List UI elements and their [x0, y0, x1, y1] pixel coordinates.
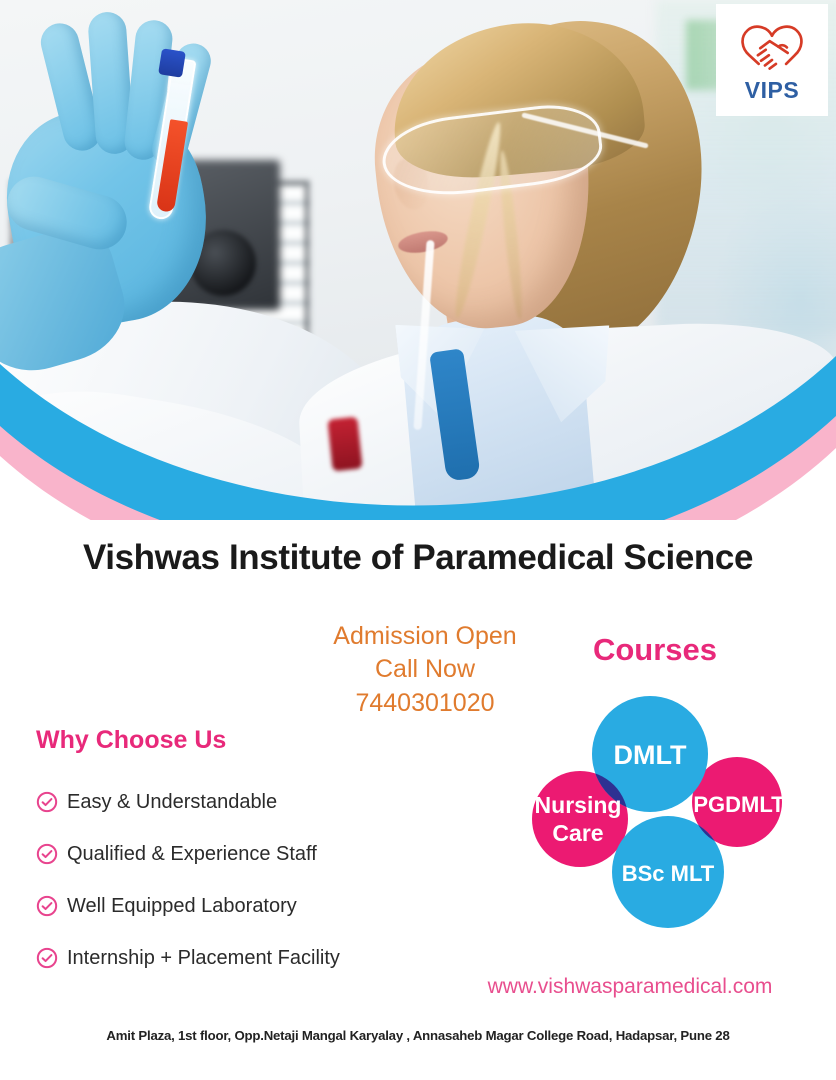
address-line: Amit Plaza, 1st floor, Opp.Netaji Mangal… [0, 1028, 836, 1043]
website-url[interactable]: www.vishwasparamedical.com [430, 975, 830, 999]
poster-root: VIPS Vishwas Institute of Paramedical Sc… [0, 0, 836, 1080]
vips-logo: VIPS [716, 4, 828, 116]
why-choose-us-list: Easy & Understandable Qualified & Experi… [36, 776, 466, 984]
cyan-wave-band [0, 356, 836, 520]
decorative-wave-bands [0, 340, 836, 520]
page-title: Vishwas Institute of Paramedical Science [0, 538, 836, 578]
course-label-nursing-care: Nursing [535, 792, 622, 818]
test-tube-cap [158, 48, 186, 77]
course-label-pgdmlt: PGDMLT [693, 792, 785, 817]
course-label-bsc-mlt: BSc MLT [622, 861, 715, 886]
hero-photo-region [0, 0, 836, 520]
circle-check-icon [36, 791, 58, 813]
circle-check-icon [36, 947, 58, 969]
list-item: Qualified & Experience Staff [36, 828, 466, 880]
handshake-heart-icon [734, 20, 810, 78]
list-item-label: Qualified & Experience Staff [67, 843, 317, 866]
course-label-dmlt: DMLT [614, 740, 687, 770]
logo-wordmark: VIPS [745, 79, 799, 102]
circle-check-icon [36, 895, 58, 917]
courses-heading: Courses [510, 632, 800, 668]
list-item-label: Easy & Understandable [67, 791, 277, 814]
why-choose-us-heading: Why Choose Us [36, 726, 226, 755]
list-item-label: Internship + Placement Facility [67, 947, 340, 970]
list-item: Easy & Understandable [36, 776, 466, 828]
list-item: Internship + Placement Facility [36, 932, 466, 984]
circle-check-icon [36, 843, 58, 865]
course-label-nursing-care-2: Care [552, 820, 603, 846]
list-item-label: Well Equipped Laboratory [67, 895, 297, 918]
list-item: Well Equipped Laboratory [36, 880, 466, 932]
courses-venn-diagram: DMLT Nursing Care PGDMLT BSc MLT [500, 676, 810, 948]
